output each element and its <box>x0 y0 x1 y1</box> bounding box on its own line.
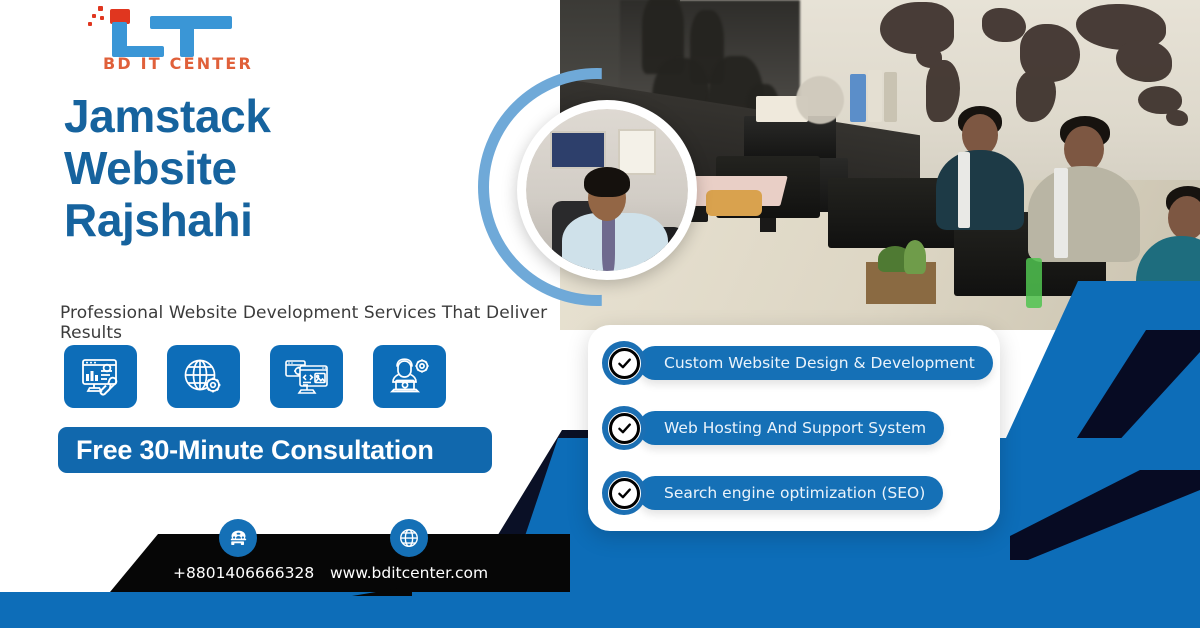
footer-black-bar <box>110 534 570 592</box>
checklist-label: Custom Website Design & Development <box>664 354 975 372</box>
check-circle-icon <box>602 406 646 450</box>
avatar <box>517 100 697 280</box>
headline-line-1: Jamstack <box>64 90 484 142</box>
list-item[interactable]: Search engine optimization (SEO) <box>602 471 943 515</box>
check-circle-icon <box>602 341 646 385</box>
checklist-label: Web Hosting And Support System <box>664 419 926 437</box>
marketing-banner: BD IT CENTER Jamstack Website Rajshahi P… <box>0 0 1200 628</box>
globe-gear-icon <box>183 358 225 396</box>
service-tile-global[interactable] <box>167 345 240 408</box>
footer-blue-strip <box>0 592 1200 628</box>
check-circle-icon <box>602 471 646 515</box>
brand-name: BD IT CENTER <box>88 54 268 73</box>
checklist-card: Custom Website Design & Development Web … <box>588 325 1000 531</box>
cta-consultation-button[interactable]: Free 30-Minute Consultation <box>58 427 492 473</box>
list-item[interactable]: Web Hosting And Support System <box>602 406 944 450</box>
page-title: Jamstack Website Rajshahi <box>64 90 484 246</box>
monitor-analytics-wrench-icon <box>80 358 122 396</box>
service-tiles <box>64 345 446 408</box>
service-tile-web-design[interactable] <box>270 345 343 408</box>
lt-monogram-icon <box>88 6 268 54</box>
phone-number[interactable]: +8801406666328 <box>173 564 314 582</box>
subtitle: Professional Website Development Service… <box>60 303 580 343</box>
web-design-screens-icon <box>284 358 330 396</box>
headline-line-3: Rajshahi <box>64 194 484 246</box>
service-tile-support[interactable] <box>373 345 446 408</box>
website-url[interactable]: www.bditcenter.com <box>330 564 488 582</box>
support-agent-laptop-gear-icon <box>389 358 431 396</box>
checklist-pill: Search engine optimization (SEO) <box>638 476 943 510</box>
brand-logo[interactable]: BD IT CENTER <box>88 6 268 78</box>
list-item[interactable]: Custom Website Design & Development <box>602 341 993 385</box>
telephone-icon[interactable] <box>219 519 257 557</box>
headline-line-2: Website <box>64 142 484 194</box>
globe-icon[interactable] <box>390 519 428 557</box>
checklist-pill: Custom Website Design & Development <box>638 346 993 380</box>
checklist-pill: Web Hosting And Support System <box>638 411 944 445</box>
service-tile-maintenance[interactable] <box>64 345 137 408</box>
checklist-label: Search engine optimization (SEO) <box>664 484 925 502</box>
cta-label: Free 30-Minute Consultation <box>58 435 434 466</box>
